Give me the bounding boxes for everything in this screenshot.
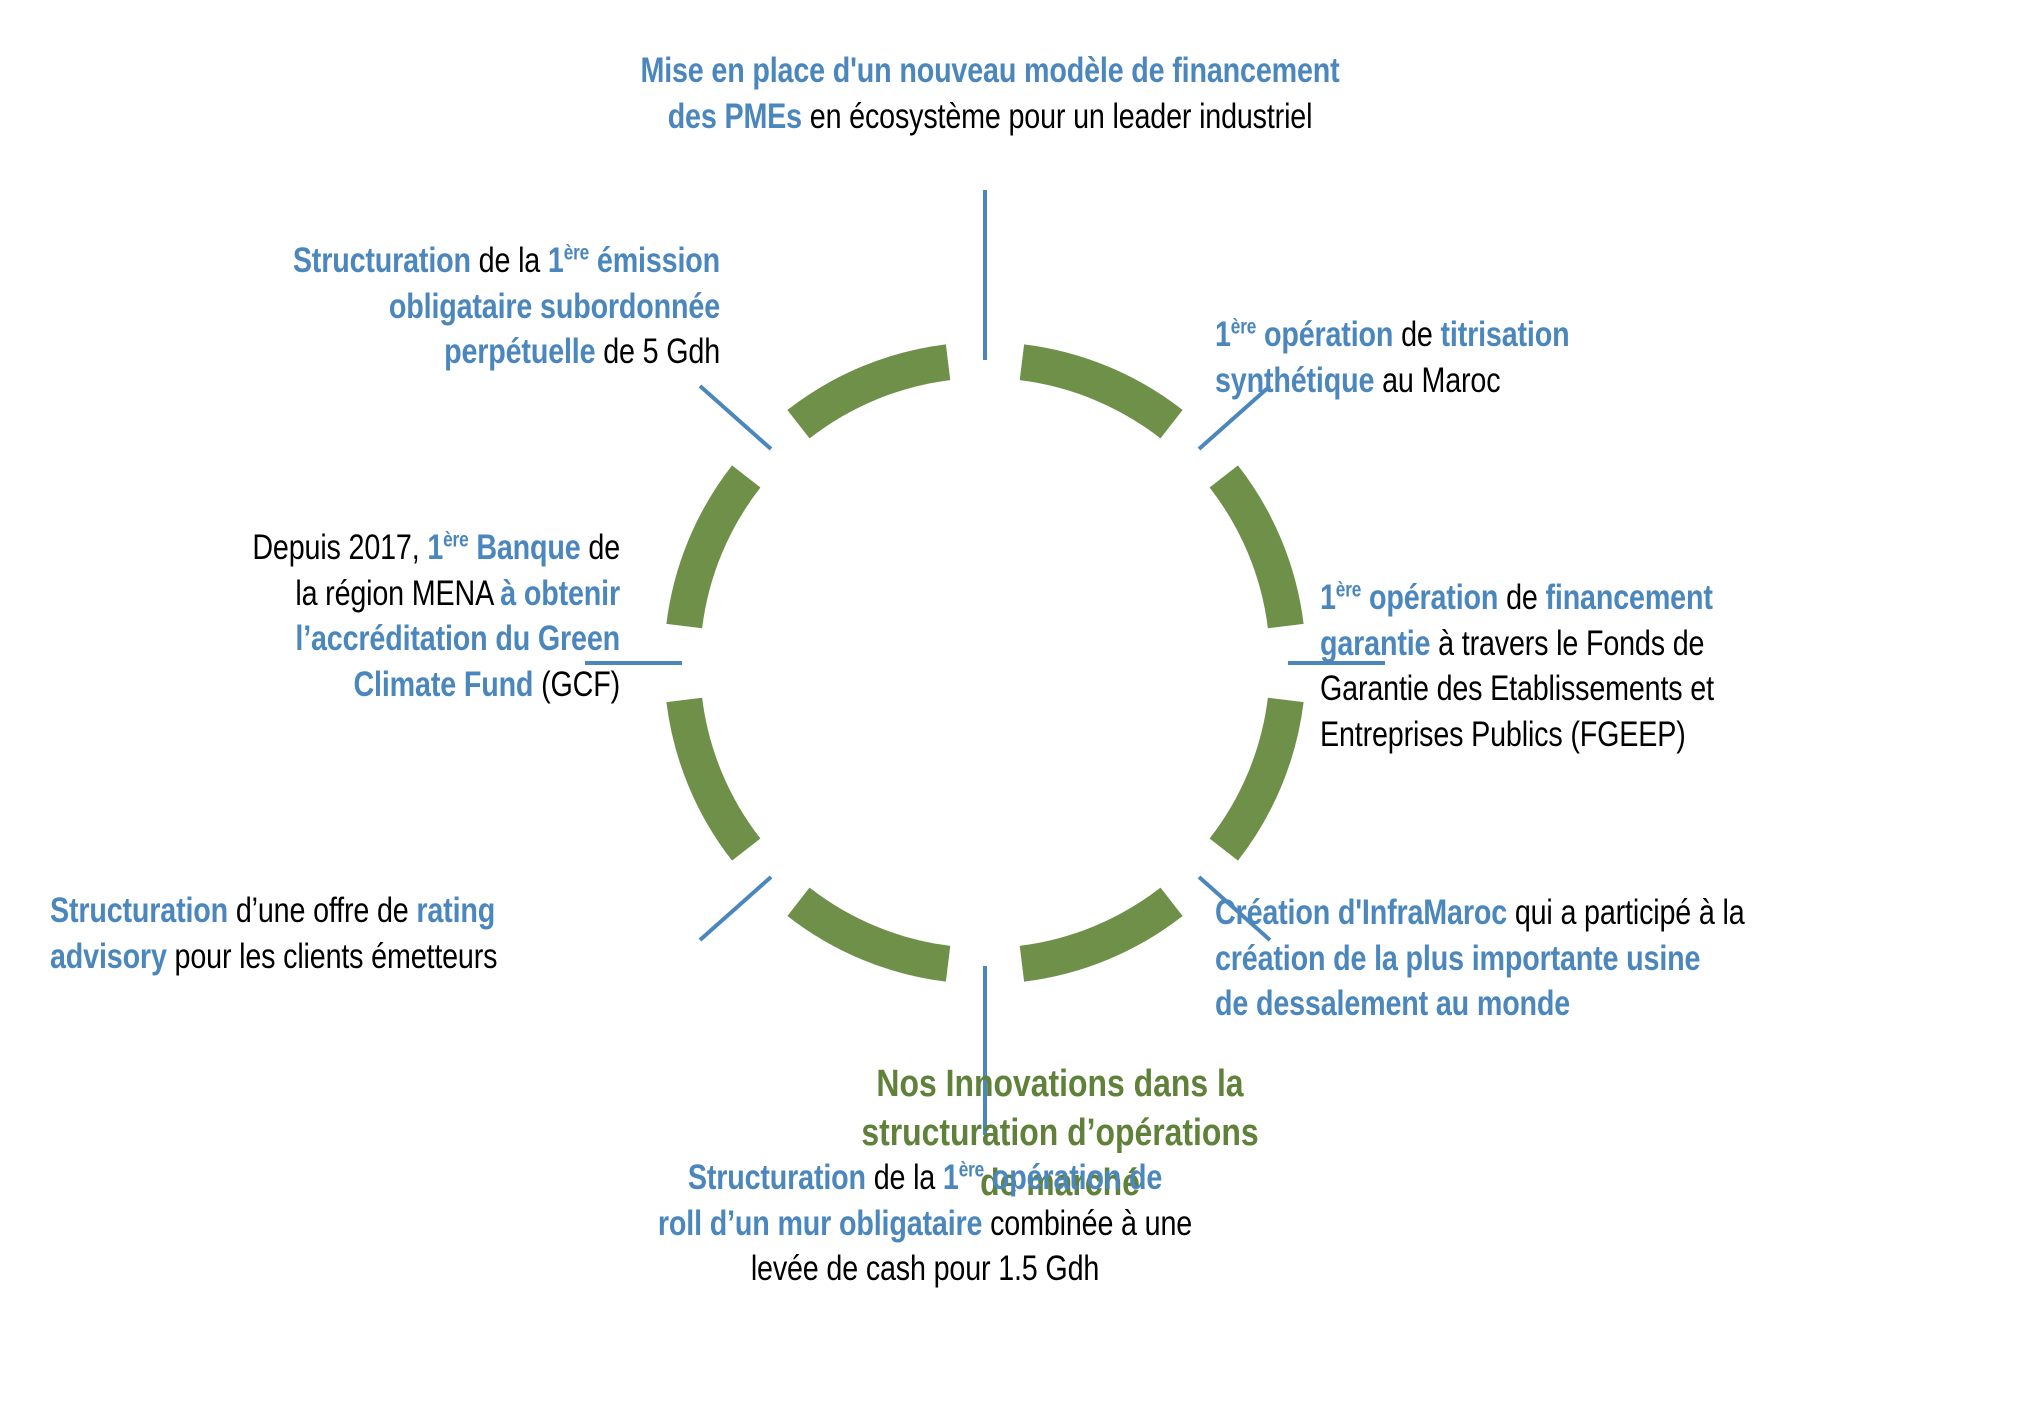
plain-text: de la (866, 1158, 943, 1197)
ordinal-suffix: ère (1231, 315, 1256, 338)
center-label-line-1: Nos Innovations dans la (842, 1060, 1279, 1109)
callout-top-right: 1ère opération de titrisationsynthétique… (1215, 312, 1691, 403)
callout-line: Création d'InfraMaroc qui a participé à … (1215, 890, 1838, 936)
ordinal-suffix: ère (564, 241, 589, 264)
emphasis-text: perpétuelle (444, 332, 595, 371)
emphasis-text: 1 (548, 241, 564, 280)
plain-text: Entreprises Publics (FGEEP) (1320, 715, 1686, 754)
plain-text: (GCF) (533, 665, 620, 704)
callout-line: de dessalement au monde (1215, 981, 1838, 1027)
plain-text: de la (471, 241, 548, 280)
emphasis-text: création de la plus importante usine (1215, 939, 1700, 978)
ring-segment-3 (1224, 700, 1286, 850)
plain-text: d’une offre de (228, 891, 416, 930)
plain-text: à travers le Fonds de (1430, 624, 1704, 663)
callout-line: Structuration d’une offre de rating (50, 888, 517, 934)
callout-line: Climate Fund (GCF) (194, 662, 620, 708)
plain-text: de (581, 528, 620, 567)
emphasis-text: opération de (984, 1158, 1162, 1197)
ring-segment-5 (798, 902, 948, 964)
emphasis-text: Mise en place d'un nouveau modèle de fin… (640, 51, 1339, 90)
callout-top-left: Structuration de la 1ère émissionobligat… (179, 238, 720, 375)
plain-text: Depuis 2017, (252, 528, 427, 567)
ordinal-suffix: ère (1336, 578, 1361, 601)
emphasis-text: rating (416, 891, 495, 930)
callout-line: Structuration de la 1ère émission (179, 238, 720, 284)
ring-segment-7 (684, 476, 746, 626)
emphasis-text: obligataire subordonnée (389, 287, 720, 326)
callout-line: Mise en place d'un nouveau modèle de fin… (564, 48, 1417, 94)
emphasis-text: émission (589, 241, 720, 280)
center-label-line-2: structuration d’opérations (842, 1109, 1279, 1158)
plain-text: de (1498, 578, 1545, 617)
ring-segment-1 (1022, 362, 1172, 424)
callout-line: des PMEs en écosystème pour un leader in… (564, 94, 1417, 140)
emphasis-text: 1 (1215, 315, 1231, 354)
emphasis-text: synthétique (1215, 361, 1374, 400)
emphasis-text: 1 (427, 528, 443, 567)
emphasis-text: l’accréditation du Green (295, 619, 620, 658)
emphasis-text: garantie (1320, 624, 1430, 663)
emphasis-text: financement (1545, 578, 1712, 617)
infographic-canvas: Nos Innovations dans la structuration d’… (0, 0, 2024, 1416)
emphasis-text: opération (1361, 578, 1498, 617)
emphasis-text: à obtenir (500, 574, 620, 613)
emphasis-text: Structuration (50, 891, 228, 930)
callout-line: Depuis 2017, 1ère Banque de (194, 525, 620, 571)
callout-line: l’accréditation du Green (194, 616, 620, 662)
callout-line: perpétuelle de 5 Gdh (179, 329, 720, 375)
emphasis-text: 1 (943, 1158, 959, 1197)
callout-line: obligataire subordonnée (179, 284, 720, 330)
callout-line: création de la plus importante usine (1215, 936, 1838, 982)
emphasis-text: 1 (1320, 578, 1336, 617)
emphasis-text: advisory (50, 937, 167, 976)
emphasis-text: Climate Fund (354, 665, 534, 704)
callout-line: garantie à travers le Fonds de (1320, 621, 1845, 667)
plain-text: en écosystème pour un leader industriel (802, 97, 1312, 136)
emphasis-text: roll d’un mur obligataire (658, 1204, 982, 1243)
callout-top: Mise en place d'un nouveau modèle de fin… (564, 48, 1417, 139)
callout-line: Garantie des Etablissements et (1320, 666, 1845, 712)
plain-text: qui a participé à la (1507, 893, 1744, 932)
plain-text: levée de cash pour 1.5 Gdh (751, 1249, 1099, 1288)
plain-text: pour les clients émetteurs (167, 937, 498, 976)
emphasis-text: des PMEs (668, 97, 802, 136)
callout-line: la région MENA à obtenir (194, 571, 620, 617)
callout-line: Structuration de la 1ère opération de (626, 1155, 1225, 1201)
ring-segment-6 (684, 700, 746, 850)
emphasis-text: opération (1256, 315, 1393, 354)
callout-line: roll d’un mur obligataire combinée à une (626, 1201, 1225, 1247)
ring-segment-4 (1022, 902, 1172, 964)
plain-text: combinée à une (982, 1204, 1192, 1243)
connector-topleft (700, 386, 771, 449)
ring-segments (684, 362, 1285, 963)
connector-botleft (700, 877, 771, 940)
callout-line: levée de cash pour 1.5 Gdh (626, 1246, 1225, 1292)
ring-segment-2 (1224, 476, 1286, 626)
callout-line: advisory pour les clients émetteurs (50, 934, 517, 980)
callout-line: synthétique au Maroc (1215, 358, 1691, 404)
emphasis-text: titrisation (1440, 315, 1569, 354)
plain-text: de (1393, 315, 1440, 354)
callout-left: Depuis 2017, 1ère Banque dela région MEN… (194, 525, 620, 707)
callout-line: Entreprises Publics (FGEEP) (1320, 712, 1845, 758)
plain-text: au Maroc (1374, 361, 1500, 400)
emphasis-text: Banque (469, 528, 581, 567)
plain-text: de 5 Gdh (595, 332, 720, 371)
ring-segment-8 (798, 362, 948, 424)
callout-bottom-right: Création d'InfraMaroc qui a participé à … (1215, 890, 1838, 1027)
callout-line: 1ère opération de financement (1320, 575, 1845, 621)
callout-line: 1ère opération de titrisation (1215, 312, 1691, 358)
ordinal-suffix: ère (443, 528, 468, 551)
callout-right: 1ère opération de financementgarantie à … (1320, 575, 1845, 757)
emphasis-text: Structuration (688, 1158, 866, 1197)
callout-bottom: Structuration de la 1ère opération derol… (626, 1155, 1225, 1292)
ordinal-suffix: ère (959, 1158, 984, 1181)
emphasis-text: Création d'InfraMaroc (1215, 893, 1507, 932)
plain-text: Garantie des Etablissements et (1320, 669, 1714, 708)
callout-bottom-left: Structuration d’une offre de ratingadvis… (50, 888, 517, 979)
plain-text: la région MENA (295, 574, 500, 613)
emphasis-text: de dessalement au monde (1215, 984, 1570, 1023)
emphasis-text: Structuration (293, 241, 471, 280)
